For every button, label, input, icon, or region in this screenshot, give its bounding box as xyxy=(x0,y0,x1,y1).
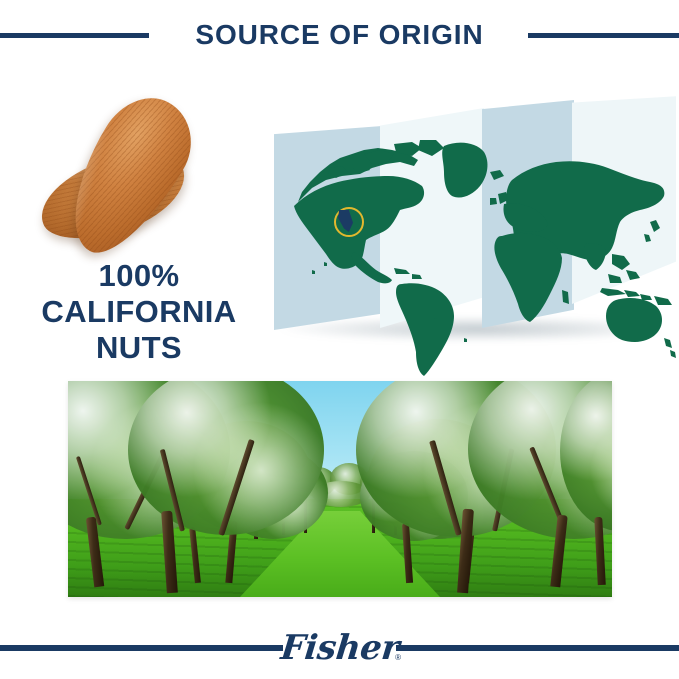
header-band: SOURCE OF ORIGIN xyxy=(0,0,679,72)
claim-line-2: CALIFORNIA xyxy=(8,294,270,330)
page-title: SOURCE OF ORIGIN xyxy=(0,15,679,55)
footer-rule-left xyxy=(0,645,283,651)
fisher-wordmark: Fisher xyxy=(279,625,402,671)
map-panel-2 xyxy=(380,108,484,328)
footer-band: Fisher ® xyxy=(0,620,679,679)
fisher-brand-logo: Fisher ® xyxy=(275,625,405,673)
orchard-photo xyxy=(68,381,612,597)
registered-trademark-icon: ® xyxy=(395,653,401,662)
claim-line-3: NUTS xyxy=(8,330,270,366)
footer-rule-right xyxy=(396,645,679,651)
folded-world-map xyxy=(268,84,678,380)
map-panel-3 xyxy=(482,100,574,328)
claim-line-1: 100% xyxy=(8,258,270,294)
almond-illustration xyxy=(36,92,242,252)
map-panel-4 xyxy=(572,92,676,304)
california-claim: 100% CALIFORNIA NUTS xyxy=(8,258,270,366)
map-panel-1 xyxy=(274,126,382,330)
source-of-origin-infographic: SOURCE OF ORIGIN 100% CALIFORNIA NUTS xyxy=(0,0,679,679)
